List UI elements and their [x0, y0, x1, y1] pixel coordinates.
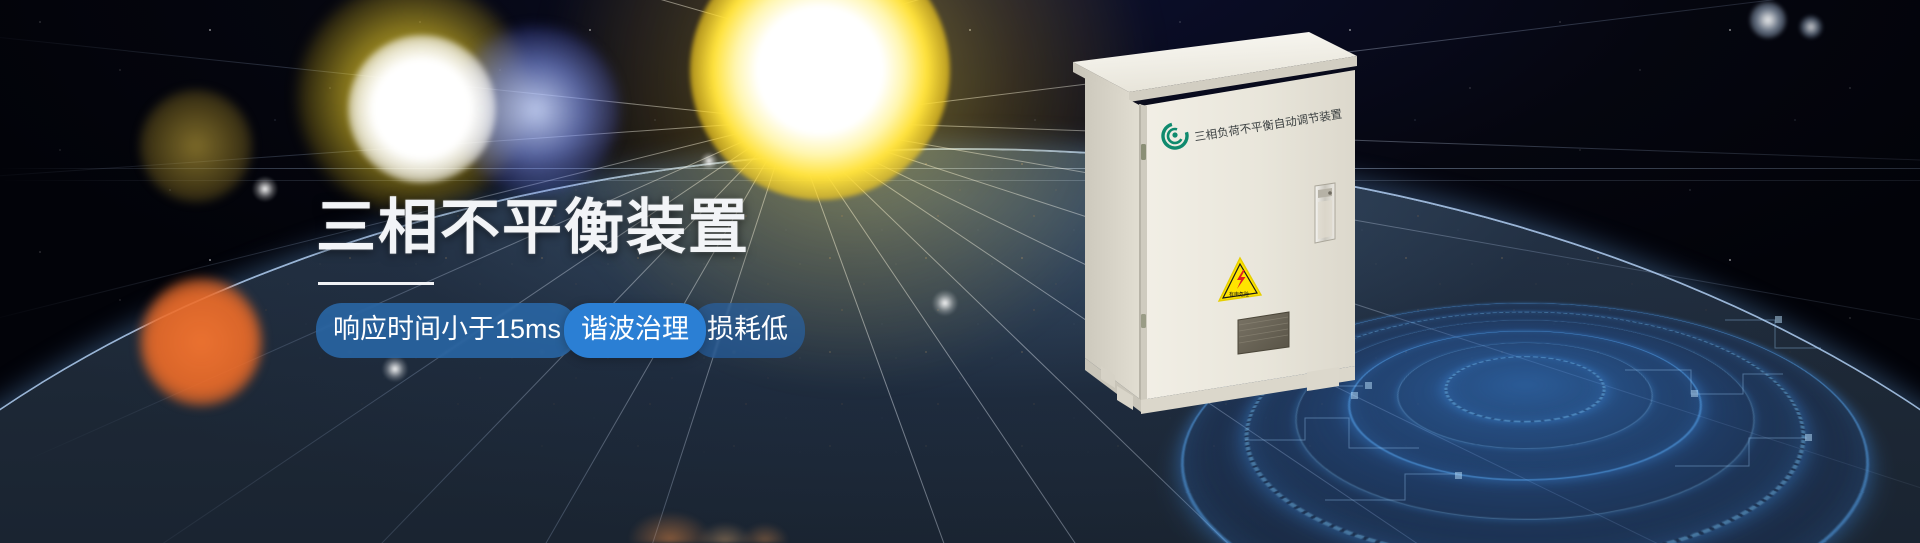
feature-pill-response-time[interactable]: 响应时间小于15ms — [316, 303, 578, 358]
door-handle-recess[interactable] — [1315, 183, 1335, 243]
city-lights-glow — [560, 453, 920, 543]
corner-glint-orb — [1750, 2, 1786, 38]
mesh-node-glint — [252, 176, 278, 202]
hinge-upper — [1141, 144, 1146, 160]
orange-glow-orb — [140, 278, 262, 406]
corner-glint-orb-small — [1800, 16, 1822, 38]
feature-pill-low-loss[interactable]: 损耗低 — [690, 303, 805, 358]
white-glow-orb — [348, 35, 496, 183]
mesh-node-glint — [700, 152, 718, 170]
hinge-lower — [1141, 314, 1146, 328]
feature-pill-harmonic[interactable]: 谐波治理 — [564, 303, 706, 358]
olive-glow-orb — [140, 90, 252, 202]
door-hinge-line — [1139, 104, 1141, 402]
banner-text-block: 三相不平衡装置 响应时间小于15ms 谐波治理 损耗低 — [316, 196, 1116, 358]
mesh-node-glint — [382, 356, 408, 382]
warning-sign-text: 有电危险 — [1229, 291, 1249, 298]
page-title: 三相不平衡装置 — [316, 196, 1116, 260]
feature-pill-group: 响应时间小于15ms 谐波治理 损耗低 — [316, 303, 1116, 358]
title-divider — [318, 282, 434, 285]
hero-banner: 三相负荷不平衡自动调节装置 有电危险 — [0, 0, 1920, 543]
ventilation-grille — [1238, 312, 1289, 354]
